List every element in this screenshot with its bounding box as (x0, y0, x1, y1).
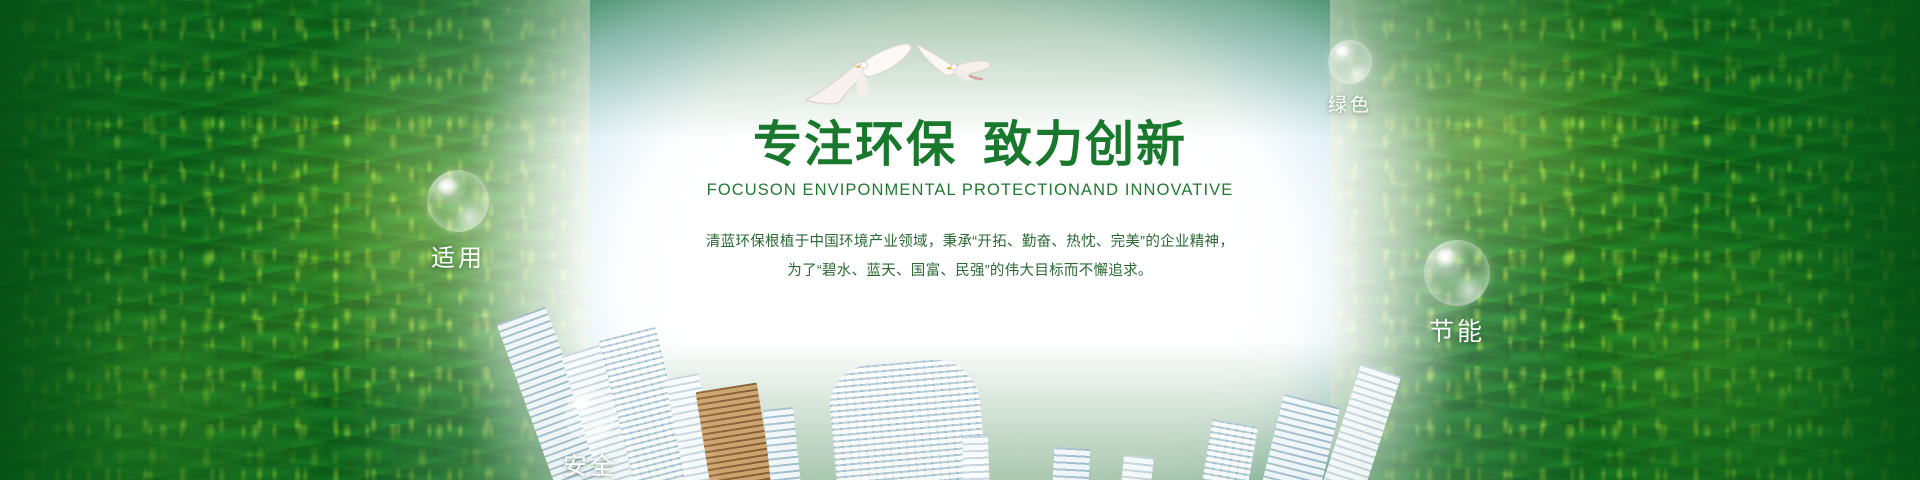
description-paragraph: 清蓝环保根植于中国环境产业领域，秉承“开拓、勤奋、热忱、完美”的企业精神， 为了… (620, 228, 1320, 286)
subtitle-english: FOCUSON ENVIPONMENTAL PROTECTIONAND INNO… (620, 181, 1320, 200)
description-line-2: 为了“碧水、蓝天、国富、民强”的伟大目标而不懈追求。 (620, 257, 1320, 286)
feature-bubble-safe[interactable]: 安全 (530, 390, 650, 480)
eco-hero-banner: 适用 安全 绿色 节能 专注环保致力创新 FOCUSON ENVIPONMENT… (0, 0, 1920, 480)
bubble-icon (1328, 40, 1372, 84)
seagull-icon (800, 38, 918, 108)
description-line-1: 清蓝环保根植于中国环境产业领域，秉承“开拓、勤奋、热忱、完美”的企业精神， (620, 228, 1320, 257)
feature-bubble-energy-saving[interactable]: 节能 (1392, 240, 1522, 348)
headline-part-2: 致力创新 (983, 118, 1187, 172)
bubble-icon (1424, 240, 1490, 306)
feature-bubble-applicable[interactable]: 适用 (398, 170, 518, 273)
hero-text-block: 专注环保致力创新 FOCUSON ENVIPONMENTAL PROTECTIO… (620, 120, 1320, 286)
feature-label: 节能 (1392, 312, 1522, 348)
headline-part-1: 专注环保 (753, 118, 957, 172)
bubble-icon (427, 170, 489, 232)
feature-label: 安全 (530, 446, 650, 480)
feature-label: 适用 (398, 238, 518, 273)
page-title: 专注环保致力创新 (620, 120, 1320, 171)
bubble-icon (565, 390, 615, 440)
seagull-icon (912, 32, 996, 90)
city-skyline (560, 280, 1380, 480)
feature-bubble-green[interactable]: 绿色 (1290, 40, 1410, 117)
feature-label: 绿色 (1290, 90, 1410, 117)
